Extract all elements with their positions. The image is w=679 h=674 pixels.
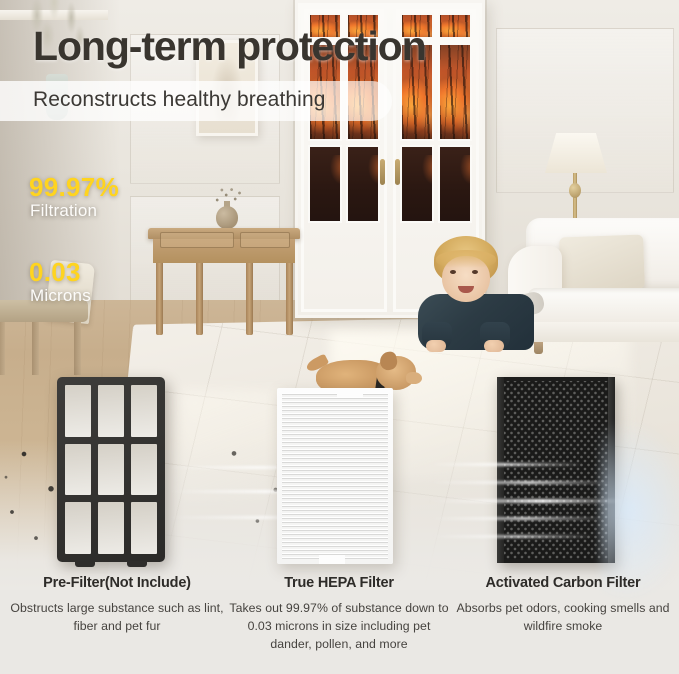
burning-trees [440, 45, 470, 139]
caption-description: Takes out 99.97% of substance down to 0.… [228, 600, 450, 653]
caption-title: True HEPA Filter [228, 575, 450, 591]
stat-value-filtration: 99.97% [29, 172, 119, 203]
page-subtitle: Reconstructs healthy breathing [33, 88, 326, 112]
product-infographic: Long-term protection Reconstructs health… [0, 0, 679, 674]
window-pane-fire [438, 13, 472, 39]
burning-trees [440, 15, 470, 37]
puppy-snout [406, 372, 422, 384]
decorative-vase [216, 206, 238, 229]
table-drawer[interactable] [240, 232, 290, 248]
caption-title: Activated Carbon Filter [452, 575, 674, 591]
lamp-knob [569, 183, 581, 198]
throw-pillow [559, 235, 645, 292]
caption-pre-filter: Pre-Filter(Not Include) Obstructs large … [8, 575, 226, 636]
window-pane-dark [346, 145, 380, 223]
caption-carbon-filter: Activated Carbon Filter Absorbs pet odor… [452, 575, 674, 636]
child-fringe [436, 250, 496, 268]
hepa-filter-product [277, 388, 393, 564]
child-hand [426, 340, 446, 352]
sofa-base [530, 322, 679, 342]
window-pane-dark [438, 145, 472, 223]
window-pane-fire [438, 43, 472, 141]
stat-label-filtration: Filtration [30, 201, 97, 221]
table-drawer[interactable] [160, 232, 234, 248]
window-pane-dark [308, 145, 342, 223]
hepa-pleats [282, 393, 388, 559]
child-eye [472, 270, 478, 274]
child-crawling [404, 236, 534, 352]
window-pane-dark [400, 145, 434, 223]
stat-value-microns: 0.03 [29, 257, 81, 288]
sofa-seat [528, 288, 679, 326]
caption-title: Pre-Filter(Not Include) [8, 575, 226, 591]
door-handle[interactable] [380, 159, 385, 185]
wooden-stool [0, 300, 88, 375]
child-eye [450, 270, 456, 274]
caption-description: Absorbs pet odors, cooking smells and wi… [452, 600, 674, 636]
child-hand [484, 340, 504, 352]
pre-filter-mesh [65, 385, 157, 554]
page-title: Long-term protection [33, 26, 426, 67]
airflow-glow [600, 420, 679, 600]
door-handle[interactable] [395, 159, 400, 185]
caption-hepa-filter: True HEPA Filter Takes out 99.97% of sub… [228, 575, 450, 653]
stat-label-microns: Microns [30, 286, 91, 306]
pre-filter-product [57, 377, 165, 562]
console-table [148, 228, 300, 338]
caption-description: Obstructs large substance such as lint, … [8, 600, 226, 636]
